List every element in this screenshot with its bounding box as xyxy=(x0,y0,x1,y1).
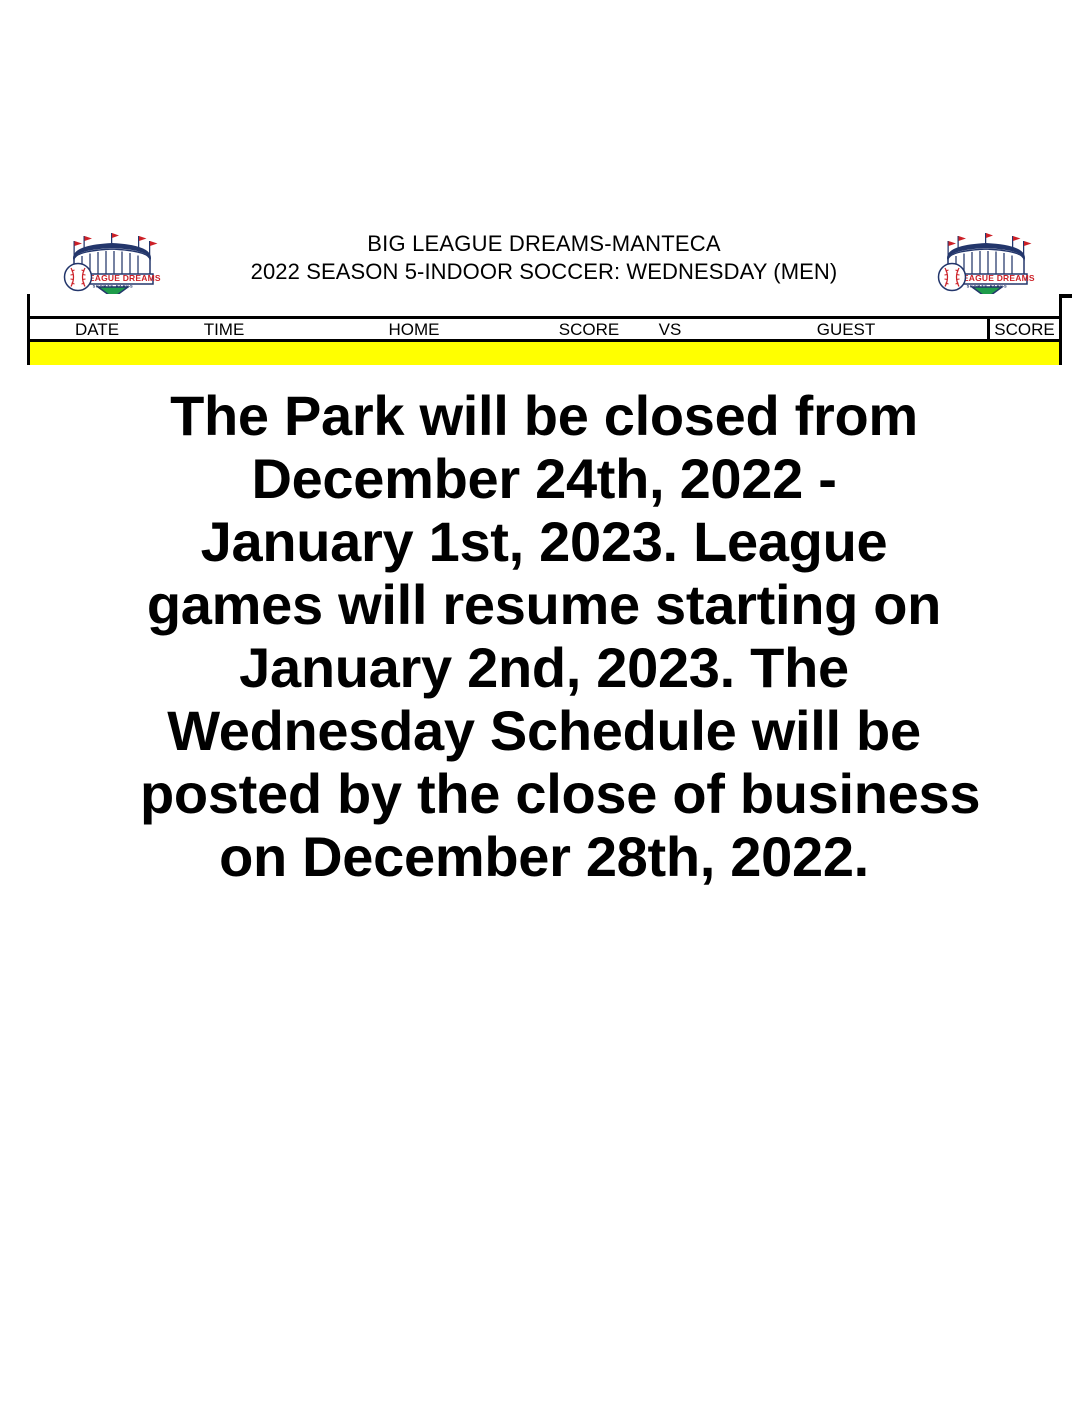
column-header-time: TIME xyxy=(164,319,284,339)
schedule-table: DATE TIME HOME SCORE VS GUEST SCORE xyxy=(27,294,1062,365)
notice-line: games will resume starting on xyxy=(140,573,948,636)
notice-line: on December 28th, 2022. xyxy=(140,825,948,888)
table-highlight-row xyxy=(27,342,1062,365)
column-header-guest: GUEST xyxy=(706,319,986,339)
column-header-home: HOME xyxy=(284,319,544,339)
table-header-row: DATE TIME HOME SCORE VS GUEST SCORE xyxy=(27,316,1062,342)
notice-line: Wednesday Schedule will be xyxy=(140,699,948,762)
column-header-vs: VS xyxy=(634,319,706,339)
page-subtitle: 2022 SEASON 5-INDOOR SOCCER: WEDNESDAY (… xyxy=(188,258,900,286)
notice-line: December 24th, 2022 - xyxy=(140,447,948,510)
column-header-home-score: SCORE xyxy=(544,319,634,339)
table-spacer-row xyxy=(27,294,1062,316)
column-header-date: DATE xyxy=(30,319,164,339)
notice-line: The Park will be closed from xyxy=(140,384,948,447)
closure-notice: The Park will be closed from December 24… xyxy=(140,384,948,888)
notice-line: January 2nd, 2023. The xyxy=(140,636,948,699)
notice-line: posted by the close of business xyxy=(140,762,948,825)
big-league-dreams-logo: BIG LEAGUE DREAMS SPORTS PARKS xyxy=(58,228,166,300)
page-title: BIG LEAGUE DREAMS-MANTECA xyxy=(188,230,900,258)
header-titles: BIG LEAGUE DREAMS-MANTECA 2022 SEASON 5-… xyxy=(188,230,900,286)
notice-line: January 1st, 2023. League xyxy=(140,510,948,573)
big-league-dreams-logo: BIG LEAGUE DREAMS SPORTS PARKS xyxy=(932,228,1040,300)
schedule-page: BIG LEAGUE DREAMS SPORTS PARKS xyxy=(0,0,1088,1408)
column-header-guest-score: SCORE xyxy=(990,319,1059,339)
page-header: BIG LEAGUE DREAMS SPORTS PARKS xyxy=(0,228,1088,296)
